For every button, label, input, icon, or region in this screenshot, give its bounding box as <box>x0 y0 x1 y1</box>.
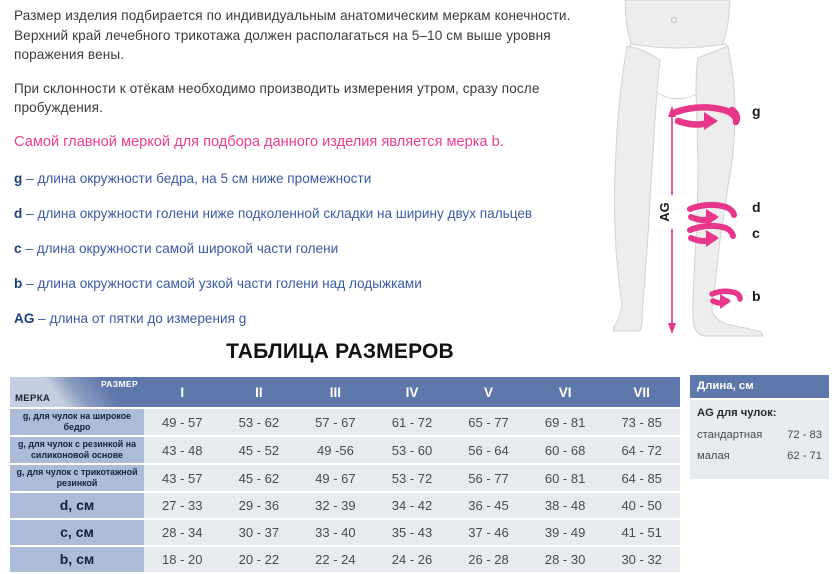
table-cell: 33 - 40 <box>297 520 374 545</box>
table-corner-cell: РАЗМЕР МЕРКА <box>10 377 144 407</box>
table-cell: 41 - 51 <box>603 520 680 545</box>
measurement-dash-b: – <box>22 276 37 291</box>
table-cell: 49 - 67 <box>297 465 374 491</box>
table-cell: 27 - 33 <box>144 493 221 518</box>
table-cell: 39 - 49 <box>527 520 604 545</box>
table-row: c, см 28 - 34 30 - 37 33 - 40 35 - 43 37… <box>10 520 680 545</box>
table-cell: 40 - 50 <box>603 493 680 518</box>
table-cell: 28 - 34 <box>144 520 221 545</box>
length-table: Длина, см AG для чулок: стандартная 72 -… <box>690 375 829 479</box>
row-label: g, для чулок на широкое бедро <box>10 409 144 435</box>
table-cell: 43 - 48 <box>144 437 221 463</box>
table-cell: 53 - 72 <box>374 465 451 491</box>
table-row: d, см 27 - 33 29 - 36 32 - 39 34 - 42 36… <box>10 493 680 518</box>
column-header-7: VII <box>603 377 680 407</box>
row-label: c, см <box>10 520 144 545</box>
measurement-definition-b: b – длина окружности самой узкой части г… <box>14 275 614 293</box>
table-cell: 24 - 26 <box>374 547 451 572</box>
table-cell: 60 - 68 <box>527 437 604 463</box>
measurement-key-c: c <box>14 241 22 256</box>
measurement-text-g: длина окружности бедра, на 5 см ниже про… <box>37 171 371 186</box>
column-header-3: III <box>297 377 374 407</box>
table-cell: 60 - 81 <box>527 465 604 491</box>
table-cell: 64 - 85 <box>603 465 680 491</box>
table-row: g, для чулок с резинкой на силиконовой о… <box>10 437 680 463</box>
figure-label-g: g <box>752 103 761 119</box>
table-cell: 30 - 32 <box>603 547 680 572</box>
ag-label: AG <box>657 202 672 222</box>
column-header-1: I <box>144 377 221 407</box>
table-body: g, для чулок на широкое бедро 49 - 57 53… <box>10 409 680 572</box>
measurement-key-ag: AG <box>14 311 34 326</box>
measurement-definition-d: d – длина окружности голени ниже подколе… <box>14 205 614 223</box>
figure-label-c: c <box>752 225 760 241</box>
column-header-5: V <box>450 377 527 407</box>
length-table-header: Длина, см <box>690 375 829 398</box>
figure-label-b: b <box>752 288 761 304</box>
length-row-standard: стандартная 72 - 83 <box>697 429 822 441</box>
table-cell: 35 - 43 <box>374 520 451 545</box>
table-row: g, для чулок на широкое бедро 49 - 57 53… <box>10 409 680 435</box>
intro-text-block: Размер изделия подбирается по индивидуал… <box>14 6 614 345</box>
length-table-body: AG для чулок: стандартная 72 - 83 малая … <box>690 400 829 479</box>
page-title: ТАБЛИЦА РАЗМЕРОВ <box>0 340 680 364</box>
measurement-dash-c: – <box>22 241 37 256</box>
table-cell: 56 - 77 <box>450 465 527 491</box>
table-cell: 49 - 57 <box>144 409 221 435</box>
leg-measurement-illustration: AG g d c b <box>600 0 836 348</box>
column-header-2: II <box>221 377 298 407</box>
table-cell: 32 - 39 <box>297 493 374 518</box>
table-cell: 34 - 42 <box>374 493 451 518</box>
table-cell: 65 - 77 <box>450 409 527 435</box>
table-cell: 36 - 45 <box>450 493 527 518</box>
table-cell: 45 - 62 <box>221 465 298 491</box>
row-label: g, для чулок с резинкой на силиконовой о… <box>10 437 144 463</box>
length-row-value: 62 - 71 <box>787 450 822 462</box>
table-cell: 43 - 57 <box>144 465 221 491</box>
measurement-dash-ag: – <box>34 311 49 326</box>
table-cell: 38 - 48 <box>527 493 604 518</box>
length-row-label: малая <box>697 450 730 462</box>
row-label: d, см <box>10 493 144 518</box>
table-cell: 37 - 46 <box>450 520 527 545</box>
measurement-text-d: длина окружности голени ниже подколенной… <box>37 206 532 221</box>
table-cell: 53 - 62 <box>221 409 298 435</box>
table-cell: 26 - 28 <box>450 547 527 572</box>
row-label: b, см <box>10 547 144 572</box>
column-header-4: IV <box>374 377 451 407</box>
table-cell: 69 - 81 <box>527 409 604 435</box>
key-measurement-note: Самой главной меркой для подбора данного… <box>14 132 614 152</box>
table-cell: 64 - 72 <box>603 437 680 463</box>
table-cell: 61 - 72 <box>374 409 451 435</box>
measurement-ring-b <box>712 291 740 309</box>
length-row-label: стандартная <box>697 429 762 441</box>
table-cell: 53 - 60 <box>374 437 451 463</box>
body-silhouette-icon <box>613 0 762 336</box>
table-cell: 30 - 37 <box>221 520 298 545</box>
length-table-title: AG для чулок: <box>697 407 822 419</box>
table-cell: 45 - 52 <box>221 437 298 463</box>
column-header-6: VI <box>527 377 604 407</box>
length-row-small: малая 62 - 71 <box>697 450 822 462</box>
corner-label-size: РАЗМЕР <box>101 379 138 389</box>
table-row: b, см 18 - 20 20 - 22 22 - 24 24 - 26 26… <box>10 547 680 572</box>
table-cell: 28 - 30 <box>527 547 604 572</box>
corner-label-measure: МЕРКА <box>15 393 50 404</box>
size-table: РАЗМЕР МЕРКА I II III IV V VI VII g, для… <box>10 375 680 574</box>
table-row: g, для чулок с трикотажной резинкой 43 -… <box>10 465 680 491</box>
intro-paragraph-2: При склонности к отёкам необходимо произ… <box>14 79 614 118</box>
measurement-definition-c: c – длина окружности самой широкой части… <box>14 240 614 258</box>
ag-dimension-arrow: AG <box>657 106 678 334</box>
measurement-definition-g: g – длина окружности бедра, на 5 см ниже… <box>14 170 614 188</box>
table-cell: 20 - 22 <box>221 547 298 572</box>
row-label: g, для чулок с трикотажной резинкой <box>10 465 144 491</box>
length-row-value: 72 - 83 <box>787 429 822 441</box>
measurement-dash-g: – <box>22 171 37 186</box>
table-cell: 56 - 64 <box>450 437 527 463</box>
table-cell: 57 - 67 <box>297 409 374 435</box>
measurement-text-ag: длина от пятки до измерения g <box>50 311 247 326</box>
table-cell: 73 - 85 <box>603 409 680 435</box>
table-cell: 29 - 36 <box>221 493 298 518</box>
measurement-text-b: длина окружности самой узкой части голен… <box>37 276 421 291</box>
measurement-definition-ag: AG – длина от пятки до измерения g <box>14 310 614 328</box>
figure-label-d: d <box>752 199 761 215</box>
table-cell: 18 - 20 <box>144 547 221 572</box>
measurement-text-c: длина окружности самой широкой части гол… <box>37 241 339 256</box>
table-header-row: РАЗМЕР МЕРКА I II III IV V VI VII <box>10 377 680 407</box>
table-cell: 49 -56 <box>297 437 374 463</box>
measurement-dash-d: – <box>22 206 37 221</box>
table-cell: 22 - 24 <box>297 547 374 572</box>
intro-paragraph-1: Размер изделия подбирается по индивидуал… <box>14 6 614 65</box>
